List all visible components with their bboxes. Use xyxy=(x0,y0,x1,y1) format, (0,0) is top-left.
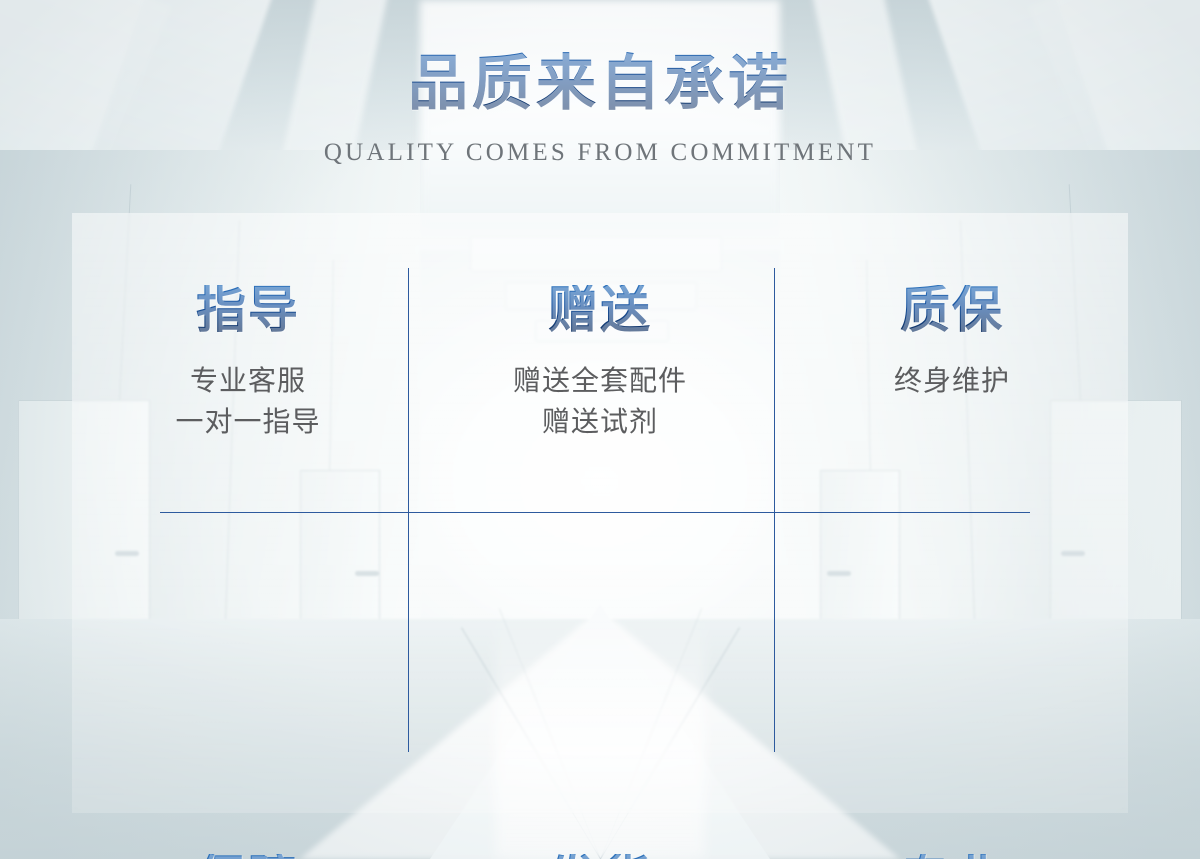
feature-description-line: 终身维护 xyxy=(776,361,1128,402)
feature-heading: 保障 xyxy=(72,854,424,859)
feature-cell-guidance: 指导 专业客服 一对一指导 xyxy=(72,213,424,512)
feature-description-line: 赠送全套配件 xyxy=(424,361,776,402)
feature-heading: 指导 xyxy=(72,285,424,335)
feature-description-line: 一对一指导 xyxy=(72,402,424,443)
page-subtitle: QUALITY COMES FROM COMMITMENT xyxy=(0,139,1200,167)
page-title: 品质来自承诺 xyxy=(0,52,1200,117)
header: 品质来自承诺 QUALITY COMES FROM COMMITMENT xyxy=(0,52,1200,167)
feature-description: 终身维护 xyxy=(776,361,1128,402)
feature-description: 专业客服 一对一指导 xyxy=(72,361,424,442)
feature-heading: 质保 xyxy=(776,285,1128,335)
feature-heading: 发货 xyxy=(424,854,776,859)
promo-banner: 品质来自承诺 QUALITY COMES FROM COMMITMENT 指导 … xyxy=(0,0,1200,859)
feature-heading: 专业 xyxy=(776,854,1128,859)
feature-description: 赠送全套配件 赠送试剂 xyxy=(424,361,776,442)
feature-cell-warranty: 质保 终身维护 xyxy=(776,213,1128,512)
feature-description-line: 专业客服 xyxy=(72,361,424,402)
feature-heading: 赠送 xyxy=(424,285,776,335)
feature-grid: 指导 专业客服 一对一指导 赠送 赠送全套配件 赠送试剂 质保 终身维护 xyxy=(72,213,1128,813)
feature-cell-shipping: 发货 原厂现货速发 xyxy=(424,512,776,813)
feature-cell-expertise: 专业 10年专注仪器研发 xyxy=(776,512,1128,813)
feature-cell-assurance: 保障 专业证书保障 xyxy=(72,512,424,813)
feature-description-line: 赠送试剂 xyxy=(424,402,776,443)
feature-cell-gift: 赠送 赠送全套配件 赠送试剂 xyxy=(424,213,776,512)
